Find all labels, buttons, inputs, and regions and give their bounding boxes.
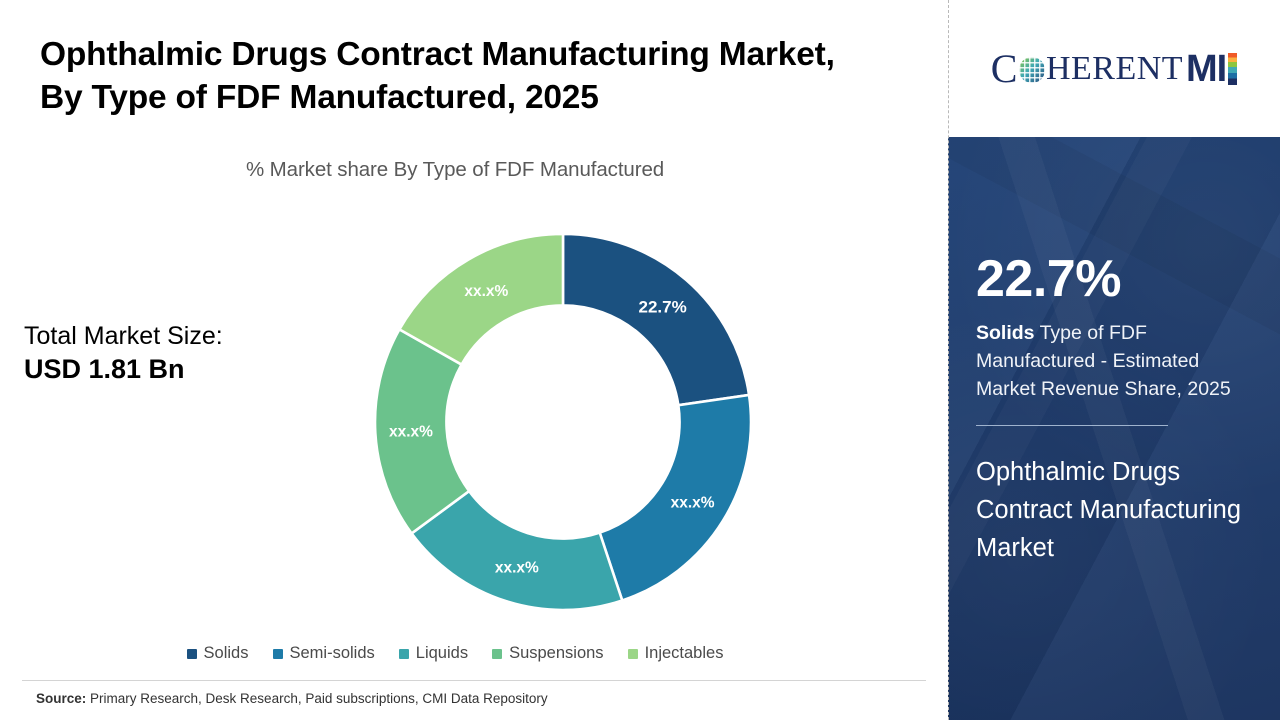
legend-label: Solids (204, 644, 249, 663)
logo-accent-bar-icon (1228, 53, 1237, 85)
donut-slice-label-liquids: xx.x% (495, 560, 539, 577)
page-title: Ophthalmic Drugs Contract Manufacturing … (40, 34, 850, 120)
legend-item-suspensions[interactable]: Suspensions (492, 644, 603, 663)
stat-divider (976, 425, 1168, 426)
stat-description: Solids Type of FDF Manufactured - Estima… (976, 319, 1252, 403)
legend-item-semi-solids[interactable]: Semi-solids (273, 644, 375, 663)
total-market-size: Total Market Size: USD 1.81 Bn (24, 320, 324, 387)
donut-slice-solids[interactable] (563, 234, 749, 405)
footer-divider (22, 680, 926, 681)
legend-item-solids[interactable]: Solids (187, 644, 249, 663)
sidebar-panel: C herent MI 22.7% Solids Type of FDF Man… (948, 0, 1280, 720)
donut-slice-label-suspensions: xx.x% (389, 424, 433, 441)
panel-divider (948, 0, 949, 720)
legend-item-liquids[interactable]: Liquids (399, 644, 468, 663)
legend-swatch-icon (492, 649, 502, 659)
brand-logo[interactable]: C herent MI (948, 0, 1280, 137)
source-label: Source: (36, 691, 86, 706)
donut-slice-label-semi-solids: xx.x% (671, 494, 715, 511)
globe-icon (1019, 57, 1045, 83)
total-market-size-label: Total Market Size: (24, 320, 324, 352)
stat-segment-name: Solids (976, 322, 1035, 344)
donut-slice-label-solids: 22.7% (639, 297, 687, 316)
total-market-size-value: USD 1.81 Bn (24, 352, 324, 387)
panel-texture (948, 137, 1280, 720)
legend-swatch-icon (399, 649, 409, 659)
logo-text-mi: MI (1186, 50, 1226, 88)
legend-label: Injectables (645, 644, 724, 663)
logo-text-herent: herent (1046, 52, 1183, 86)
donut-slice-label-injectables: xx.x% (464, 283, 508, 300)
stat-highlight-panel: 22.7% Solids Type of FDF Manufactured - … (948, 137, 1280, 720)
market-name: Ophthalmic Drugs Contract Manufacturing … (976, 454, 1252, 567)
chart-legend: SolidsSemi-solidsLiquidsSuspensionsInjec… (40, 644, 870, 663)
infographic-root: Ophthalmic Drugs Contract Manufacturing … (0, 0, 1280, 720)
legend-label: Semi-solids (290, 644, 375, 663)
legend-label: Suspensions (509, 644, 603, 663)
donut-chart: 22.7%xx.x%xx.x%xx.x%xx.x% (373, 232, 753, 612)
chart-panel: Ophthalmic Drugs Contract Manufacturing … (0, 0, 948, 720)
donut-chart-svg: 22.7%xx.x%xx.x%xx.x%xx.x% (373, 232, 753, 612)
stat-percent: 22.7% (976, 253, 1252, 305)
chart-subtitle: % Market share By Type of FDF Manufactur… (40, 158, 870, 182)
logo-letter-c: C (991, 49, 1018, 89)
legend-swatch-icon (273, 649, 283, 659)
coherentmi-logo: C herent MI (991, 49, 1238, 89)
source-note: Source: Primary Research, Desk Research,… (36, 691, 548, 706)
legend-swatch-icon (187, 649, 197, 659)
legend-label: Liquids (416, 644, 468, 663)
legend-item-injectables[interactable]: Injectables (628, 644, 724, 663)
legend-swatch-icon (628, 649, 638, 659)
source-text: Primary Research, Desk Research, Paid su… (86, 691, 547, 706)
